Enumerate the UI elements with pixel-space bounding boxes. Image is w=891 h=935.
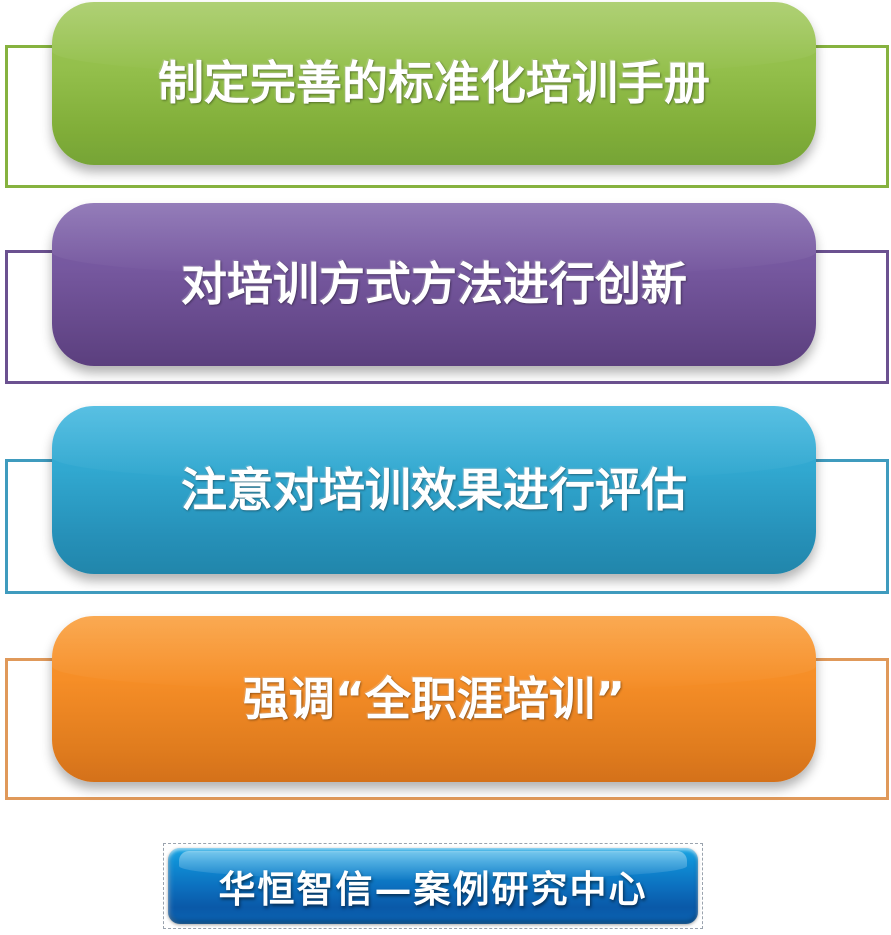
process-step-4-label: 强调“全职涯培训” bbox=[243, 674, 625, 725]
footer-badge-selection-frame[interactable]: 华恒智信—案例研究中心 bbox=[163, 843, 703, 929]
footer-badge[interactable]: 华恒智信—案例研究中心 bbox=[168, 848, 698, 924]
slide-canvas: 制定完善的标准化培训手册 对培训方式方法进行创新 注意对培训效果进行评估 强调“… bbox=[0, 0, 891, 935]
process-step-1[interactable]: 制定完善的标准化培训手册 bbox=[52, 2, 816, 165]
process-step-3-label: 注意对培训效果进行评估 bbox=[181, 465, 687, 516]
process-step-4[interactable]: 强调“全职涯培训” bbox=[52, 616, 816, 782]
process-step-2-label: 对培训方式方法进行创新 bbox=[181, 259, 687, 310]
process-step-2[interactable]: 对培训方式方法进行创新 bbox=[52, 203, 816, 366]
process-step-3[interactable]: 注意对培训效果进行评估 bbox=[52, 406, 816, 574]
footer-badge-label: 华恒智信—案例研究中心 bbox=[219, 859, 648, 913]
process-step-1-label: 制定完善的标准化培训手册 bbox=[158, 58, 710, 109]
